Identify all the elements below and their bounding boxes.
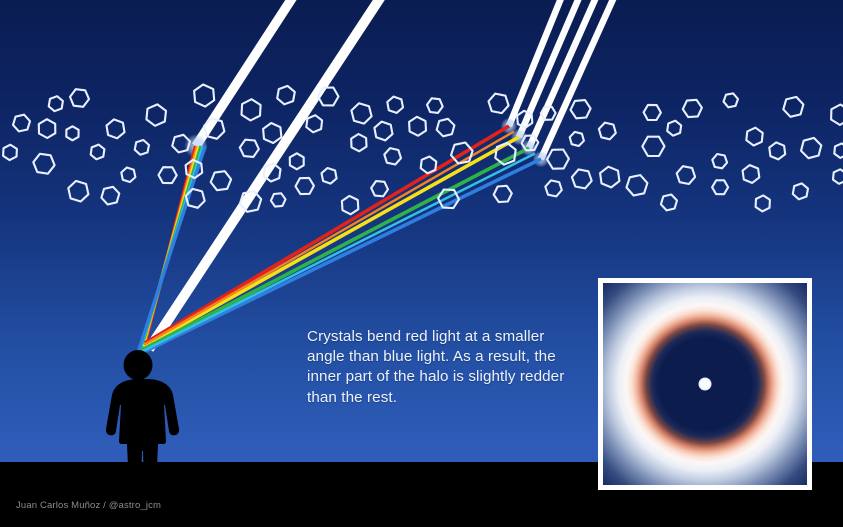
direct-sunbeam-middle xyxy=(149,0,388,349)
light-beams xyxy=(138,0,619,354)
ice-crystal xyxy=(306,115,322,132)
halo-diagram-figure: Crystals bend red light at a smaller ang… xyxy=(0,0,843,527)
ice-crystal xyxy=(545,180,562,196)
ice-crystal xyxy=(263,123,281,143)
ice-crystal xyxy=(3,145,17,160)
ice-crystal xyxy=(70,89,89,107)
ice-crystal xyxy=(351,103,371,123)
ice-crystal xyxy=(146,104,166,125)
ice-crystal xyxy=(49,96,63,111)
ice-crystal xyxy=(271,193,286,206)
ice-crystal xyxy=(667,121,681,136)
ice-crystal xyxy=(831,105,843,125)
ice-crystal xyxy=(39,119,56,138)
ice-crystal xyxy=(33,154,54,174)
ice-crystal xyxy=(342,196,358,214)
ice-crystal xyxy=(101,187,119,205)
halo-image xyxy=(603,283,807,485)
ice-crystal xyxy=(571,100,591,118)
direct-sunbeam-left xyxy=(196,0,300,146)
observer-silhouette xyxy=(106,350,179,495)
ice-crystal xyxy=(66,126,78,140)
ice-crystal xyxy=(712,154,727,168)
ice-crystal xyxy=(322,168,337,184)
ice-crystal xyxy=(351,134,366,151)
ice-crystal xyxy=(277,86,295,104)
ice-crystal xyxy=(409,117,426,136)
ice-crystal xyxy=(421,157,437,174)
ice-crystal xyxy=(661,195,677,211)
ice-crystal xyxy=(746,128,762,146)
refracted-ray-blue-right xyxy=(140,159,541,354)
ice-crystal xyxy=(834,143,843,158)
ice-crystal xyxy=(756,195,770,211)
ice-crystal xyxy=(683,100,702,117)
caption-text: Crystals bend red light at a smaller ang… xyxy=(307,327,597,408)
ice-crystal xyxy=(387,97,403,113)
ice-crystal xyxy=(833,169,843,184)
ice-crystal xyxy=(769,142,785,159)
ice-crystal xyxy=(384,148,401,164)
ice-crystal xyxy=(135,140,149,155)
ice-crystal xyxy=(743,165,760,183)
ice-crystal xyxy=(724,93,739,107)
ice-crystal xyxy=(427,98,443,113)
ice-crystal xyxy=(547,150,569,169)
sun-dot xyxy=(699,378,712,391)
ice-crystal xyxy=(783,97,803,117)
ice-crystal xyxy=(437,119,455,137)
ice-crystal xyxy=(644,105,661,120)
ice-crystal xyxy=(677,166,695,184)
ice-crystal xyxy=(242,99,261,120)
ice-crystal xyxy=(371,181,388,196)
ice-crystal xyxy=(570,132,584,146)
ice-crystal xyxy=(290,153,304,169)
ice-crystal xyxy=(374,122,392,141)
ice-crystal xyxy=(121,168,135,183)
ice-crystal xyxy=(627,175,648,195)
ice-crystal xyxy=(107,119,125,138)
ice-crystal xyxy=(489,94,509,114)
ice-crystal xyxy=(572,169,592,188)
ice-crystal xyxy=(296,178,314,194)
ice-crystal xyxy=(801,138,821,158)
ice-crystal xyxy=(91,145,105,160)
refracted-ray-cyan-right xyxy=(141,154,535,352)
ice-crystal xyxy=(159,167,177,183)
ice-crystal xyxy=(793,183,808,199)
ice-crystal xyxy=(599,123,616,140)
ice-crystal xyxy=(712,180,728,194)
ice-crystal xyxy=(68,181,88,202)
ice-crystal xyxy=(494,186,512,202)
halo-photo-inset xyxy=(598,278,812,490)
ice-crystal-field xyxy=(3,85,843,215)
ice-crystal xyxy=(194,85,214,107)
credit-line: Juan Carlos Muñoz / @astro_jcm xyxy=(16,500,161,511)
ice-crystal xyxy=(240,140,259,157)
ice-crystal xyxy=(211,171,231,190)
ice-crystal xyxy=(13,115,30,132)
sunbeam-right-1 xyxy=(509,0,566,126)
ice-crystal xyxy=(642,137,664,156)
ice-crystal xyxy=(600,167,619,188)
